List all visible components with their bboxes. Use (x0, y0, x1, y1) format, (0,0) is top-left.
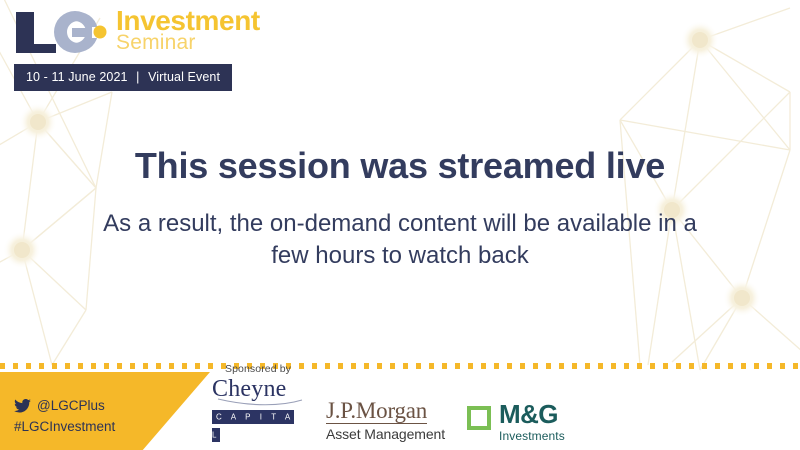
twitter-handle[interactable]: @LGCPlus (37, 396, 105, 416)
jpmorgan-wordmark: J.P.Morgan (326, 399, 427, 424)
page-subtitle: As a result, the on-demand content will … (0, 208, 800, 272)
lgc-logo-mark (14, 10, 108, 54)
logo-title: Investment (116, 8, 260, 34)
event-dates: 10 - 11 June 2021 (26, 70, 128, 84)
page-title: This session was streamed live (0, 146, 800, 186)
mg-wordmark: M&G (499, 402, 565, 427)
slide-footer: @LGCPlus #LGCInvestment Sponsored by Che… (0, 372, 800, 450)
twitter-icon (14, 399, 31, 413)
jpmorgan-descriptor: Asset Management (326, 426, 445, 442)
mg-descriptor: Investments (499, 430, 565, 442)
main-message-block: This session was streamed live As a resu… (0, 146, 800, 271)
event-type: Virtual Event (148, 70, 220, 84)
event-date-badge: 10 - 11 June 2021 | Virtual Event (14, 64, 232, 91)
lgc-investment-seminar-logo: Investment Seminar (14, 8, 344, 54)
social-links: @LGCPlus #LGCInvestment (14, 396, 115, 436)
event-hashtag[interactable]: #LGCInvestment (14, 417, 115, 437)
sponsor-jp-morgan: J.P.Morgan Asset Management (326, 399, 445, 450)
badge-separator: | (131, 70, 144, 84)
sponsor-cheyne-capital: Sponsored by Cheyne C A P I T A L (212, 363, 304, 450)
cheyne-wordmark: Cheyne (212, 376, 287, 402)
sponsored-by-label: Sponsored by (225, 363, 291, 375)
mg-square-icon (467, 406, 491, 430)
sponsor-logos: Sponsored by Cheyne C A P I T A L J.P.Mo… (212, 372, 565, 450)
cheyne-capital-descriptor: C A P I T A L (212, 410, 294, 442)
dotted-divider (0, 363, 800, 369)
sponsor-mg-investments: M&G Investments (467, 402, 565, 450)
presentation-slide: Investment Seminar 10 - 11 June 2021 | V… (0, 0, 800, 450)
